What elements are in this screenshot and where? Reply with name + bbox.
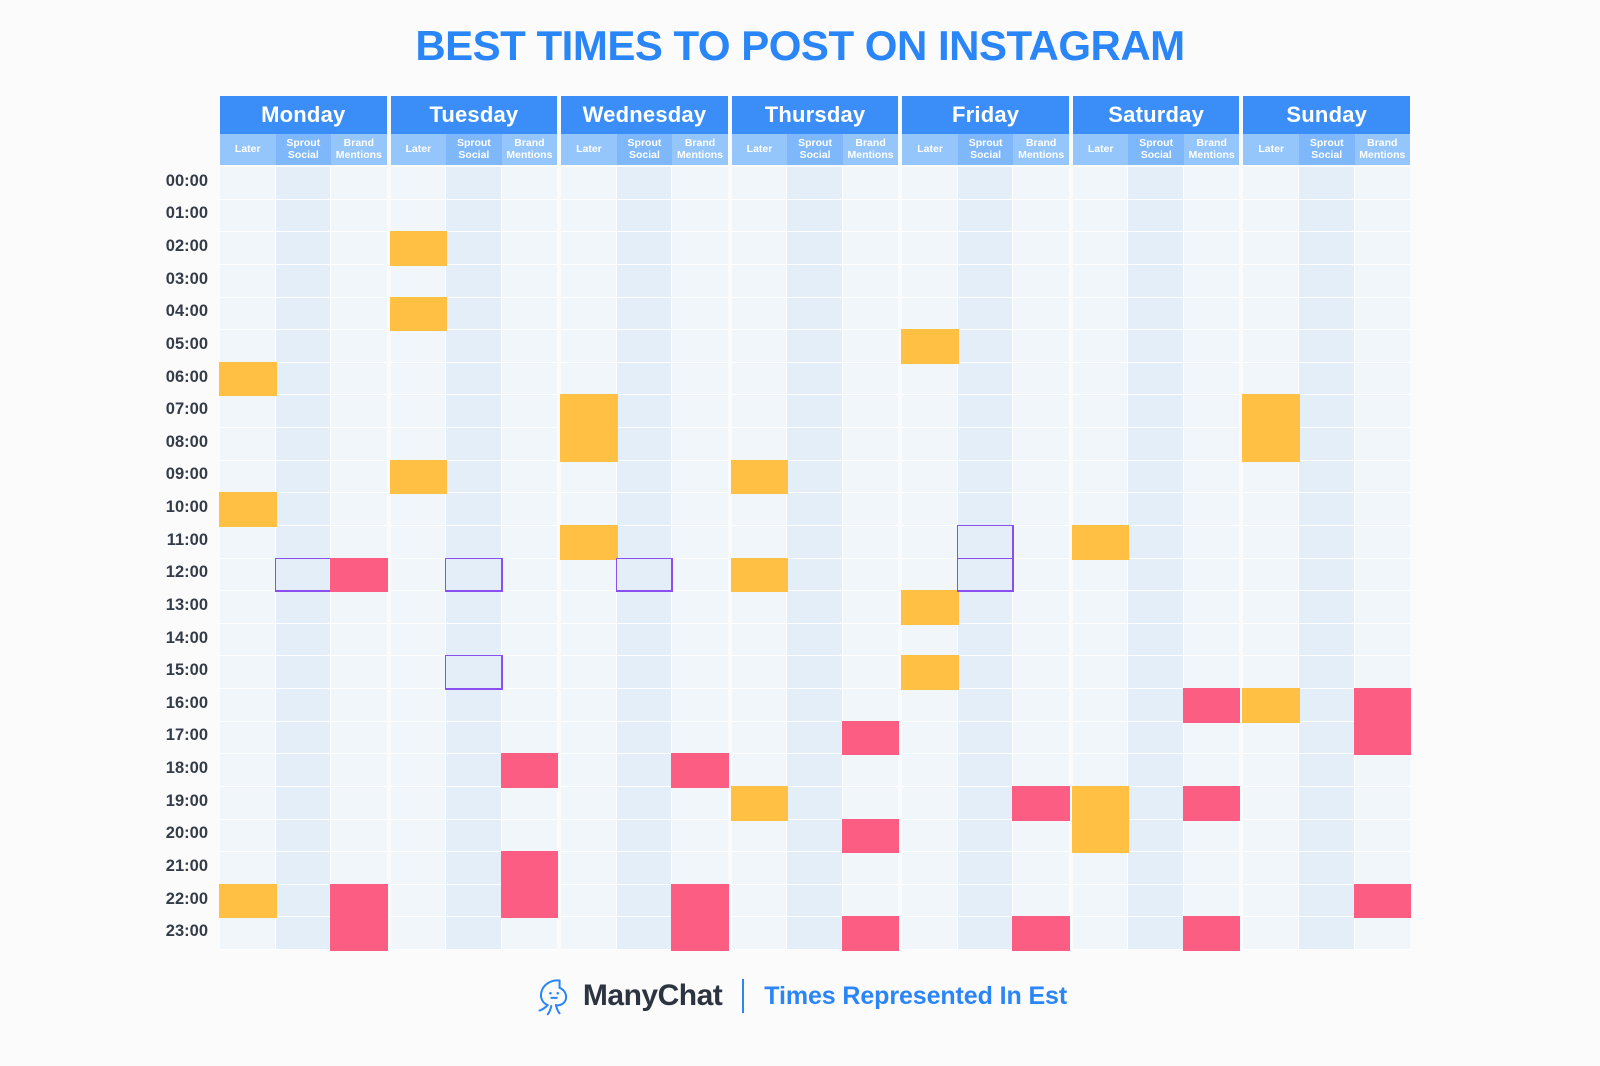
- heatmap-cell-thursday-brand-mentions-0200: [843, 232, 899, 265]
- heatmap-cell-saturday-sprout-social-2100: [1128, 852, 1184, 885]
- heatmap-cell-wednesday-brand-mentions-0900: [672, 461, 728, 494]
- heatmap-cell-sunday-brand-mentions-0700: [1355, 395, 1411, 428]
- heatmap-cell-sunday-sprout-social-1100: [1299, 526, 1355, 559]
- source-group-tuesday: LaterSprout SocialBrand Mentions: [391, 134, 558, 165]
- heatmap-cell-active-friday-later-1300: [902, 591, 958, 624]
- heatmap-cell-sunday-later-0300: [1243, 265, 1299, 298]
- heatmap-cell-sunday-sprout-social-2100: [1299, 852, 1355, 885]
- heatmap-cell-active-tuesday-sprout-social-1200: [446, 559, 502, 592]
- heatmap-cell-saturday-sprout-social-0300: [1128, 265, 1184, 298]
- heatmap-cell-active-tuesday-later-0900: [391, 461, 447, 494]
- heatmap-cell-thursday-brand-mentions-1900: [843, 787, 899, 820]
- source-group-saturday: LaterSprout SocialBrand Mentions: [1073, 134, 1240, 165]
- heatmap-cell-thursday-brand-mentions-1100: [843, 526, 899, 559]
- heatmap-cell-tuesday-brand-mentions-1000: [502, 493, 558, 526]
- heatmap-cell-wednesday-brand-mentions-1300: [672, 591, 728, 624]
- heatmap-cell-saturday-brand-mentions-2200: [1184, 885, 1240, 918]
- heatmap-cell-sunday-brand-mentions-1200: [1355, 559, 1411, 592]
- source-column-sunday-brand-mentions: [1355, 167, 1411, 950]
- time-label-1400: 14:00: [100, 622, 210, 655]
- heatmap-cell-active-thursday-brand-mentions-1700: [843, 722, 899, 755]
- heatmap-cell-active-tuesday-later-0400: [391, 298, 447, 331]
- time-label-0000: 00:00: [100, 165, 210, 198]
- heatmap-cell-friday-brand-mentions-1500: [1013, 656, 1069, 689]
- source-group-monday: LaterSprout SocialBrand Mentions: [220, 134, 387, 165]
- heatmap-cell-wednesday-brand-mentions-2100: [672, 852, 728, 885]
- heatmap-cell-monday-sprout-social-0700: [276, 395, 332, 428]
- time-label-1200: 12:00: [100, 557, 210, 590]
- time-label-0900: 09:00: [100, 459, 210, 492]
- heatmap-cell-saturday-later-2100: [1073, 852, 1129, 885]
- heatmap-cell-tuesday-brand-mentions-0700: [502, 395, 558, 428]
- heatmap-cell-active-monday-brand-mentions-1200: [331, 559, 387, 592]
- heatmap-cell-wednesday-later-0100: [561, 200, 617, 233]
- heatmap-cell-tuesday-later-2000: [391, 820, 447, 853]
- heatmap-cell-saturday-later-1400: [1073, 624, 1129, 657]
- heatmap-cell-saturday-brand-mentions-2100: [1184, 852, 1240, 885]
- heatmap-cell-thursday-sprout-social-0100: [787, 200, 843, 233]
- source-header-monday-brand-mentions: Brand Mentions: [331, 134, 387, 165]
- heatmap-cell-wednesday-later-0900: [561, 461, 617, 494]
- heatmap-cell-wednesday-brand-mentions-1400: [672, 624, 728, 657]
- heatmap-cell-wednesday-sprout-social-1300: [617, 591, 673, 624]
- heatmap-cell-monday-brand-mentions-1300: [331, 591, 387, 624]
- heatmap-cell-monday-brand-mentions-1500: [331, 656, 387, 689]
- heatmap-cell-wednesday-later-2200: [561, 885, 617, 918]
- heatmap-cell-tuesday-later-1100: [391, 526, 447, 559]
- heatmap-cell-active-wednesday-brand-mentions-2300: [672, 917, 728, 950]
- heatmap-cell-friday-sprout-social-2200: [958, 885, 1014, 918]
- heatmap-cell-thursday-sprout-social-1500: [787, 656, 843, 689]
- day-column-saturday: [1073, 167, 1240, 950]
- heatmap-cell-saturday-brand-mentions-0600: [1184, 363, 1240, 396]
- heatmap-cell-sunday-later-0200: [1243, 232, 1299, 265]
- heatmap-cell-monday-later-1600: [220, 689, 276, 722]
- time-label-2000: 20:00: [100, 818, 210, 851]
- heatmap-cell-saturday-sprout-social-2200: [1128, 885, 1184, 918]
- source-column-saturday-brand-mentions: [1184, 167, 1240, 950]
- heatmap-cell-sunday-brand-mentions-0500: [1355, 330, 1411, 363]
- heatmap-cell-sunday-brand-mentions-1300: [1355, 591, 1411, 624]
- heatmap-cell-saturday-brand-mentions-0000: [1184, 167, 1240, 200]
- heatmap-cell-saturday-brand-mentions-0500: [1184, 330, 1240, 363]
- heatmap-cell-saturday-brand-mentions-2000: [1184, 820, 1240, 853]
- heatmap-cell-saturday-brand-mentions-1300: [1184, 591, 1240, 624]
- heatmap-cell-friday-brand-mentions-0700: [1013, 395, 1069, 428]
- heatmap-cell-monday-brand-mentions-0200: [331, 232, 387, 265]
- heatmap-cell-friday-later-2300: [902, 917, 958, 950]
- heatmap-cell-wednesday-sprout-social-1600: [617, 689, 673, 722]
- time-label-1600: 16:00: [100, 687, 210, 720]
- heatmap-cell-monday-sprout-social-1900: [276, 787, 332, 820]
- time-axis: 00:0001:0002:0003:0004:0005:0006:0007:00…: [100, 165, 210, 948]
- heatmap-cell-tuesday-sprout-social-0400: [446, 298, 502, 331]
- heatmap-cell-wednesday-sprout-social-0100: [617, 200, 673, 233]
- source-header-thursday-later: Later: [732, 134, 788, 165]
- heatmap-cell-active-tuesday-sprout-social-1500: [446, 656, 502, 689]
- heatmap-cell-monday-sprout-social-2000: [276, 820, 332, 853]
- heatmap-cell-wednesday-sprout-social-1900: [617, 787, 673, 820]
- source-column-friday-later: [902, 167, 958, 950]
- time-label-1800: 18:00: [100, 752, 210, 785]
- heatmap-cell-saturday-later-1200: [1073, 559, 1129, 592]
- heatmap-cell-sunday-brand-mentions-0900: [1355, 461, 1411, 494]
- source-column-sunday-sprout-social: [1299, 167, 1355, 950]
- source-column-thursday-later: [732, 167, 788, 950]
- heatmap-cell-sunday-later-2100: [1243, 852, 1299, 885]
- heatmap-cell-thursday-later-1100: [732, 526, 788, 559]
- day-header-thursday: Thursday: [732, 96, 899, 134]
- heatmap-cell-monday-later-1300: [220, 591, 276, 624]
- heatmap-cell-friday-later-1000: [902, 493, 958, 526]
- heatmap-cell-wednesday-sprout-social-1000: [617, 493, 673, 526]
- source-group-wednesday: LaterSprout SocialBrand Mentions: [561, 134, 728, 165]
- heatmap-cell-monday-brand-mentions-0000: [331, 167, 387, 200]
- heatmap-cell-saturday-sprout-social-0600: [1128, 363, 1184, 396]
- heatmap-cell-wednesday-later-1900: [561, 787, 617, 820]
- heatmap-cell-sunday-later-1400: [1243, 624, 1299, 657]
- heatmap-cell-monday-sprout-social-0400: [276, 298, 332, 331]
- heatmap-cell-tuesday-sprout-social-2000: [446, 820, 502, 853]
- heatmap-cell-thursday-later-2000: [732, 820, 788, 853]
- heatmap-cell-wednesday-sprout-social-2100: [617, 852, 673, 885]
- heatmap-cell-monday-brand-mentions-0600: [331, 363, 387, 396]
- heatmap-cell-friday-brand-mentions-0100: [1013, 200, 1069, 233]
- heatmap-cell-thursday-brand-mentions-0500: [843, 330, 899, 363]
- heatmap-cell-tuesday-later-0500: [391, 330, 447, 363]
- heatmap-cell-wednesday-brand-mentions-1700: [672, 722, 728, 755]
- heatmap-cell-monday-later-1100: [220, 526, 276, 559]
- heatmap-cell-wednesday-sprout-social-0700: [617, 395, 673, 428]
- heatmap-cell-wednesday-brand-mentions-0000: [672, 167, 728, 200]
- heatmap-cell-tuesday-sprout-social-2300: [446, 917, 502, 950]
- heatmap-cell-saturday-later-0000: [1073, 167, 1129, 200]
- heatmap-cell-wednesday-later-0300: [561, 265, 617, 298]
- heatmap-cell-thursday-brand-mentions-0100: [843, 200, 899, 233]
- heatmap-cell-saturday-brand-mentions-0900: [1184, 461, 1240, 494]
- heatmap-cell-thursday-later-0200: [732, 232, 788, 265]
- source-column-thursday-sprout-social: [787, 167, 843, 950]
- time-label-0300: 03:00: [100, 263, 210, 296]
- heatmap-cell-wednesday-later-0000: [561, 167, 617, 200]
- heatmap-cell-tuesday-brand-mentions-1200: [502, 559, 558, 592]
- source-header-row: LaterSprout SocialBrand MentionsLaterSpr…: [220, 134, 1410, 165]
- heatmap-cell-monday-sprout-social-1800: [276, 754, 332, 787]
- heatmap-cell-active-tuesday-later-0200: [391, 232, 447, 265]
- heatmap-cell-active-saturday-brand-mentions-1600: [1184, 689, 1240, 722]
- heatmap-cell-sunday-later-0500: [1243, 330, 1299, 363]
- heatmap-cell-tuesday-sprout-social-1100: [446, 526, 502, 559]
- heatmap-cell-wednesday-sprout-social-2300: [617, 917, 673, 950]
- heatmap-cell-sunday-brand-mentions-1800: [1355, 754, 1411, 787]
- heatmap-cell-wednesday-later-1000: [561, 493, 617, 526]
- heatmap-cell-friday-brand-mentions-1300: [1013, 591, 1069, 624]
- heatmap-cell-friday-sprout-social-1800: [958, 754, 1014, 787]
- heatmap-cell-wednesday-later-1300: [561, 591, 617, 624]
- heatmap-cell-thursday-sprout-social-0000: [787, 167, 843, 200]
- heatmap-cell-saturday-brand-mentions-1700: [1184, 722, 1240, 755]
- heatmap-cell-saturday-sprout-social-1400: [1128, 624, 1184, 657]
- heatmap-cell-monday-later-0900: [220, 461, 276, 494]
- heatmap-cell-thursday-brand-mentions-1800: [843, 754, 899, 787]
- heatmap-cell-active-friday-later-0500: [902, 330, 958, 363]
- heatmap-cell-sunday-sprout-social-2300: [1299, 917, 1355, 950]
- heatmap-cell-tuesday-later-0000: [391, 167, 447, 200]
- source-group-sunday: LaterSprout SocialBrand Mentions: [1243, 134, 1410, 165]
- heatmap-cell-friday-brand-mentions-0300: [1013, 265, 1069, 298]
- source-header-wednesday-sprout-social: Sprout Social: [617, 134, 673, 165]
- heatmap-cell-saturday-sprout-social-1500: [1128, 656, 1184, 689]
- page-title: BEST TIMES TO POST ON INSTAGRAM: [0, 22, 1600, 70]
- heatmap-cell-tuesday-sprout-social-0800: [446, 428, 502, 461]
- heatmap-cell-friday-sprout-social-0200: [958, 232, 1014, 265]
- heatmap-cell-sunday-sprout-social-0400: [1299, 298, 1355, 331]
- heatmap-cell-tuesday-later-0800: [391, 428, 447, 461]
- source-header-wednesday-later: Later: [561, 134, 617, 165]
- heatmap-cell-saturday-later-1600: [1073, 689, 1129, 722]
- heatmap-cell-friday-sprout-social-0400: [958, 298, 1014, 331]
- heatmap-cell-friday-sprout-social-0900: [958, 461, 1014, 494]
- heatmap-cell-friday-later-0700: [902, 395, 958, 428]
- heatmap-cell-tuesday-sprout-social-0600: [446, 363, 502, 396]
- heatmap-cell-thursday-sprout-social-0200: [787, 232, 843, 265]
- heatmap-cell-saturday-later-1000: [1073, 493, 1129, 526]
- heatmap-cell-monday-later-1200: [220, 559, 276, 592]
- heatmap-cell-friday-brand-mentions-2200: [1013, 885, 1069, 918]
- heatmap-cell-friday-later-0200: [902, 232, 958, 265]
- heatmap-cell-thursday-sprout-social-1900: [787, 787, 843, 820]
- heatmap-cell-friday-brand-mentions-0600: [1013, 363, 1069, 396]
- heatmap-cell-sunday-brand-mentions-1900: [1355, 787, 1411, 820]
- heatmap-cell-tuesday-later-1800: [391, 754, 447, 787]
- heatmap-cell-sunday-later-0100: [1243, 200, 1299, 233]
- heatmap-cell-wednesday-brand-mentions-0800: [672, 428, 728, 461]
- heatmap-cell-wednesday-sprout-social-0800: [617, 428, 673, 461]
- heatmap-cell-sunday-sprout-social-0700: [1299, 395, 1355, 428]
- heatmap-cell-friday-later-1400: [902, 624, 958, 657]
- heatmap-cell-thursday-brand-mentions-1400: [843, 624, 899, 657]
- heatmap-cell-monday-sprout-social-0900: [276, 461, 332, 494]
- heatmap-cell-sunday-later-1900: [1243, 787, 1299, 820]
- heatmap-cell-sunday-sprout-social-0900: [1299, 461, 1355, 494]
- heatmap-cell-active-saturday-brand-mentions-2300: [1184, 917, 1240, 950]
- day-column-sunday: [1243, 167, 1410, 950]
- heatmap-cell-tuesday-brand-mentions-1600: [502, 689, 558, 722]
- time-label-2100: 21:00: [100, 850, 210, 883]
- time-label-1100: 11:00: [100, 524, 210, 557]
- heatmap-cell-active-monday-brand-mentions-2300: [331, 917, 387, 950]
- source-header-friday-later: Later: [902, 134, 958, 165]
- heatmap-cell-thursday-brand-mentions-0900: [843, 461, 899, 494]
- heatmap-cell-friday-sprout-social-2000: [958, 820, 1014, 853]
- heatmap-cell-active-thursday-later-1200: [732, 559, 788, 592]
- heatmap-cell-sunday-sprout-social-2200: [1299, 885, 1355, 918]
- heatmap-cell-friday-brand-mentions-0000: [1013, 167, 1069, 200]
- heatmap-cell-saturday-sprout-social-1700: [1128, 722, 1184, 755]
- heatmap-cell-thursday-later-1500: [732, 656, 788, 689]
- heatmap-cell-tuesday-later-1700: [391, 722, 447, 755]
- heatmap-cell-wednesday-sprout-social-0500: [617, 330, 673, 363]
- heatmap-cell-monday-sprout-social-0600: [276, 363, 332, 396]
- source-header-thursday-brand-mentions: Brand Mentions: [843, 134, 899, 165]
- heatmap-cell-monday-later-1700: [220, 722, 276, 755]
- heatmap-cell-thursday-later-0700: [732, 395, 788, 428]
- heatmap-cell-tuesday-brand-mentions-0100: [502, 200, 558, 233]
- day-header-monday: Monday: [220, 96, 387, 134]
- heatmap-cell-wednesday-later-2000: [561, 820, 617, 853]
- heatmap-cell-monday-sprout-social-2100: [276, 852, 332, 885]
- heatmap-cell-saturday-later-0600: [1073, 363, 1129, 396]
- heatmap-cell-sunday-sprout-social-1300: [1299, 591, 1355, 624]
- time-label-0700: 07:00: [100, 393, 210, 426]
- source-column-monday-later: [220, 167, 276, 950]
- heatmap-cell-saturday-brand-mentions-0700: [1184, 395, 1240, 428]
- infographic-page: BEST TIMES TO POST ON INSTAGRAM 00:0001:…: [0, 0, 1600, 1066]
- heatmap-cell-saturday-sprout-social-2000: [1128, 820, 1184, 853]
- heatmap-cell-saturday-later-0500: [1073, 330, 1129, 363]
- heatmap-cell-tuesday-brand-mentions-0500: [502, 330, 558, 363]
- heatmap-cell-friday-later-1900: [902, 787, 958, 820]
- heatmap-cell-wednesday-brand-mentions-2000: [672, 820, 728, 853]
- heatmap-cell-wednesday-sprout-social-0600: [617, 363, 673, 396]
- heatmap-cell-tuesday-later-0300: [391, 265, 447, 298]
- heatmap-cell-active-thursday-later-1900: [732, 787, 788, 820]
- heatmap-cell-thursday-sprout-social-0600: [787, 363, 843, 396]
- heatmap-cell-monday-later-1800: [220, 754, 276, 787]
- heatmap-cell-active-saturday-later-1100: [1073, 526, 1129, 559]
- heatmap-cell-friday-sprout-social-0300: [958, 265, 1014, 298]
- heatmap-cell-saturday-brand-mentions-0800: [1184, 428, 1240, 461]
- heatmap-cell-active-wednesday-later-0800: [561, 428, 617, 461]
- source-header-monday-later: Later: [220, 134, 276, 165]
- heatmap-cell-thursday-sprout-social-0500: [787, 330, 843, 363]
- heatmap-cell-monday-brand-mentions-0800: [331, 428, 387, 461]
- heatmap-cell-saturday-sprout-social-0800: [1128, 428, 1184, 461]
- heatmap-cell-thursday-sprout-social-1000: [787, 493, 843, 526]
- heatmap-cell-saturday-sprout-social-1300: [1128, 591, 1184, 624]
- heatmap-cell-sunday-brand-mentions-2100: [1355, 852, 1411, 885]
- heatmap-cell-sunday-brand-mentions-0000: [1355, 167, 1411, 200]
- heatmap-cell-sunday-brand-mentions-2000: [1355, 820, 1411, 853]
- heatmap-cell-thursday-sprout-social-2100: [787, 852, 843, 885]
- heatmap-cell-sunday-later-1800: [1243, 754, 1299, 787]
- heatmap-cell-tuesday-sprout-social-1800: [446, 754, 502, 787]
- heatmap-cell-wednesday-sprout-social-0300: [617, 265, 673, 298]
- manychat-octopus-icon: [533, 975, 577, 1017]
- heatmap-cell-monday-sprout-social-2200: [276, 885, 332, 918]
- heatmap-cell-monday-brand-mentions-2000: [331, 820, 387, 853]
- day-header-saturday: Saturday: [1073, 96, 1240, 134]
- heatmap-cell-sunday-later-2300: [1243, 917, 1299, 950]
- heatmap-cell-sunday-later-2200: [1243, 885, 1299, 918]
- heatmap-cell-wednesday-later-2300: [561, 917, 617, 950]
- heatmap-cell-tuesday-brand-mentions-1700: [502, 722, 558, 755]
- heatmap-cell-monday-sprout-social-0200: [276, 232, 332, 265]
- source-column-monday-brand-mentions: [331, 167, 387, 950]
- heatmap-cell-saturday-brand-mentions-1400: [1184, 624, 1240, 657]
- heatmap-cell-wednesday-brand-mentions-0100: [672, 200, 728, 233]
- heatmap-cell-sunday-later-1300: [1243, 591, 1299, 624]
- heatmap-cell-saturday-sprout-social-0500: [1128, 330, 1184, 363]
- time-label-1700: 17:00: [100, 720, 210, 753]
- heatmap-cell-saturday-later-0400: [1073, 298, 1129, 331]
- heatmap-cell-thursday-brand-mentions-0700: [843, 395, 899, 428]
- source-header-friday-sprout-social: Sprout Social: [958, 134, 1014, 165]
- heatmap-cell-wednesday-later-2100: [561, 852, 617, 885]
- heatmap-cell-saturday-sprout-social-1200: [1128, 559, 1184, 592]
- heatmap-cell-active-sunday-later-1600: [1243, 689, 1299, 722]
- heatmap-cell-thursday-sprout-social-1800: [787, 754, 843, 787]
- source-column-friday-brand-mentions: [1013, 167, 1069, 950]
- heatmap-cell-active-tuesday-brand-mentions-1800: [502, 754, 558, 787]
- manychat-logo-text: ManyChat: [583, 979, 722, 1013]
- source-column-tuesday-brand-mentions: [502, 167, 558, 950]
- heatmap-cell-monday-brand-mentions-0900: [331, 461, 387, 494]
- heatmap-cell-tuesday-sprout-social-1900: [446, 787, 502, 820]
- heatmap-cell-wednesday-brand-mentions-1100: [672, 526, 728, 559]
- heatmap-cell-thursday-later-1600: [732, 689, 788, 722]
- heatmap-cell-monday-sprout-social-1500: [276, 656, 332, 689]
- heatmap-cell-sunday-brand-mentions-0100: [1355, 200, 1411, 233]
- heatmap-cell-monday-brand-mentions-1400: [331, 624, 387, 657]
- heatmap-cell-wednesday-later-1700: [561, 722, 617, 755]
- heatmap-cell-tuesday-sprout-social-0700: [446, 395, 502, 428]
- heatmap-cell-friday-later-2100: [902, 852, 958, 885]
- heatmap-cell-thursday-later-0300: [732, 265, 788, 298]
- heatmap-cell-wednesday-later-1200: [561, 559, 617, 592]
- heatmap-cell-monday-later-1400: [220, 624, 276, 657]
- heatmap-cell-monday-later-0200: [220, 232, 276, 265]
- heatmap-cell-sunday-brand-mentions-1100: [1355, 526, 1411, 559]
- heatmap-cell-thursday-brand-mentions-1500: [843, 656, 899, 689]
- heatmap-cell-monday-sprout-social-0000: [276, 167, 332, 200]
- heatmap-cell-friday-later-2200: [902, 885, 958, 918]
- heatmap-cell-thursday-later-0500: [732, 330, 788, 363]
- heatmap-cell-wednesday-later-1500: [561, 656, 617, 689]
- source-header-sunday-brand-mentions: Brand Mentions: [1355, 134, 1411, 165]
- heatmap-cell-friday-later-0600: [902, 363, 958, 396]
- heatmap-cell-friday-sprout-social-0700: [958, 395, 1014, 428]
- heatmap-cell-sunday-brand-mentions-1500: [1355, 656, 1411, 689]
- heatmap-cell-tuesday-brand-mentions-1900: [502, 787, 558, 820]
- heatmap-cell-active-tuesday-brand-mentions-2100: [502, 852, 558, 885]
- heatmap-cell-tuesday-sprout-social-1000: [446, 493, 502, 526]
- heatmap-cell-sunday-sprout-social-0500: [1299, 330, 1355, 363]
- heatmap-cell-wednesday-sprout-social-2000: [617, 820, 673, 853]
- heatmap-cell-thursday-later-0600: [732, 363, 788, 396]
- day-column-friday: [902, 167, 1069, 950]
- heatmap-cell-saturday-later-0200: [1073, 232, 1129, 265]
- heatmap-cell-saturday-brand-mentions-0100: [1184, 200, 1240, 233]
- heatmap-cell-monday-later-0300: [220, 265, 276, 298]
- day-header-wednesday: Wednesday: [561, 96, 728, 134]
- heatmap-cell-friday-sprout-social-1000: [958, 493, 1014, 526]
- heatmap-cell-saturday-later-0800: [1073, 428, 1129, 461]
- heatmap-cell-saturday-sprout-social-0400: [1128, 298, 1184, 331]
- heatmap-cell-sunday-sprout-social-1600: [1299, 689, 1355, 722]
- heatmap-cell-sunday-sprout-social-0100: [1299, 200, 1355, 233]
- heatmap-cell-saturday-sprout-social-1000: [1128, 493, 1184, 526]
- heatmap-cell-active-monday-later-1000: [220, 493, 276, 526]
- day-header-sunday: Sunday: [1243, 96, 1410, 134]
- heatmap-cell-tuesday-sprout-social-2200: [446, 885, 502, 918]
- heatmap-cell-saturday-later-1300: [1073, 591, 1129, 624]
- source-header-thursday-sprout-social: Sprout Social: [787, 134, 843, 165]
- heatmap-cell-thursday-later-1400: [732, 624, 788, 657]
- time-label-1900: 19:00: [100, 785, 210, 818]
- heatmap-cell-sunday-brand-mentions-0800: [1355, 428, 1411, 461]
- heatmap-cell-saturday-later-2300: [1073, 917, 1129, 950]
